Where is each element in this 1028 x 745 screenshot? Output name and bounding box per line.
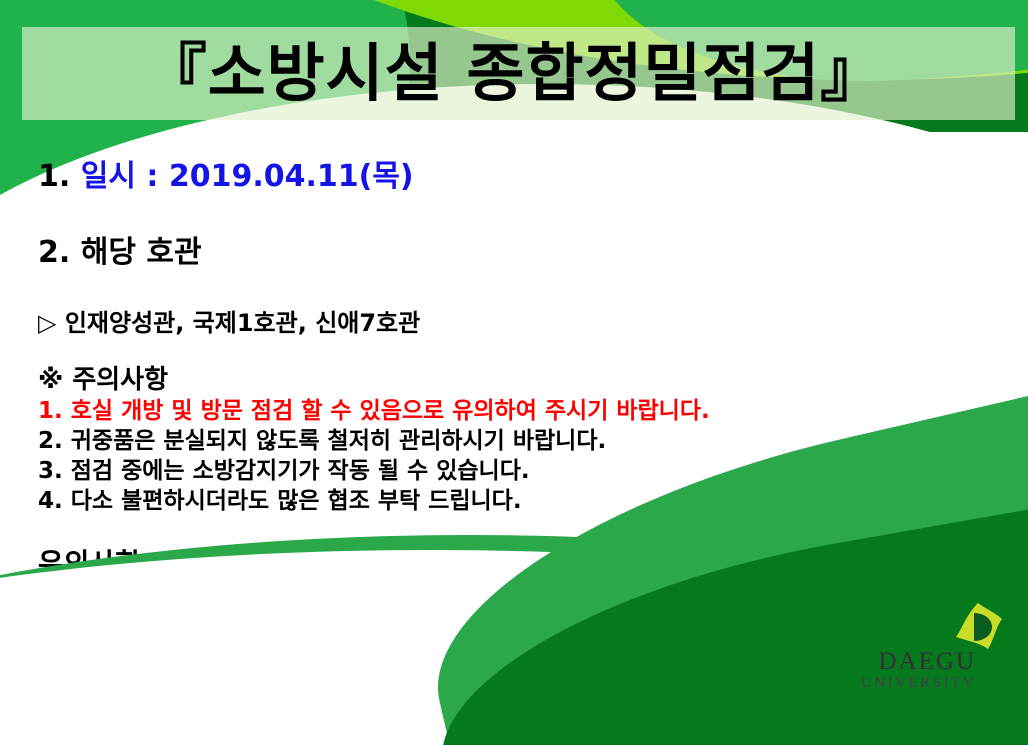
agenda-item-2-number: 2. <box>38 235 70 270</box>
footer-note-label: 유의사항: <box>38 547 152 580</box>
triangle-bullet-icon: ▷ <box>38 309 56 337</box>
logo-subname: UNIVERSITY <box>861 676 976 691</box>
agenda-item-1-text: 일시 : 2019.04.11(목) <box>81 159 414 194</box>
notice-2-text: 귀중품은 분실되지 않도록 철저히 관리하시기 바랍니다. <box>71 428 606 454</box>
notice-item: 2. 귀중품은 분실되지 않도록 철저히 관리하시기 바랍니다. <box>38 426 988 456</box>
footer-note-spellcheck-text: 1시간정도 <box>178 583 301 616</box>
spacer-1 <box>38 194 988 236</box>
agenda-item-1-number: 1. <box>38 159 70 194</box>
slide-title: 『소방시설 종합정밀점검』 <box>0 28 1028 120</box>
daegu-university-wordmark: DAEGU UNIVERSITY <box>861 649 976 691</box>
presentation-slide: 『소방시설 종합정밀점검』 1. 일시 : 2019.04.11(목) 2. 해… <box>0 0 1028 745</box>
spacer-2 <box>38 270 988 308</box>
logo-name: DAEGU <box>861 649 976 674</box>
notice-1-text: 호실 개방 및 방문 점검 할 수 있음으로 유의하여 주시기 바랍니다. <box>71 398 710 424</box>
spacer-3 <box>38 338 988 364</box>
footer-note-line-1: 유의사항: 점검시간은 13시부터 17시이며 상황에 따라 <box>38 546 988 582</box>
footer-note-text-continued: 연장 될 수 있습니다. <box>301 583 557 616</box>
notice-4-number: 4. <box>38 488 63 514</box>
slide-body: 1. 일시 : 2019.04.11(목) 2. 해당 호관 ▷ 인재양성관, … <box>38 160 988 618</box>
agenda-item-2: 2. 해당 호관 <box>38 236 988 270</box>
notice-3-text: 점검 중에는 소방감지기가 작동 될 수 있습니다. <box>71 458 530 484</box>
notice-1-number: 1. <box>38 398 63 424</box>
footer-note-line-2: 1시간정도 연장 될 수 있습니다. <box>38 582 988 618</box>
notice-2-number: 2. <box>38 428 63 454</box>
buildings-line: ▷ 인재양성관, 국제1호관, 신애7호관 <box>38 308 988 338</box>
buildings-text: 인재양성관, 국제1호관, 신애7호관 <box>65 309 420 337</box>
agenda-item-2-text: 해당 호관 <box>81 235 202 270</box>
notice-heading: ※ 주의사항 <box>38 364 988 396</box>
daegu-university-emblem-icon <box>952 601 1004 653</box>
agenda-item-1: 1. 일시 : 2019.04.11(목) <box>38 160 988 194</box>
daegu-university-logo: DAEGU UNIVERSITY <box>860 601 1010 693</box>
notice-3-number: 3. <box>38 458 63 484</box>
notice-item: 3. 점검 중에는 소방감지기가 작동 될 수 있습니다. <box>38 456 988 486</box>
notice-item: 4. 다소 불편하시더라도 많은 협조 부탁 드립니다. <box>38 486 988 516</box>
notice-4-text: 다소 불편하시더라도 많은 협조 부탁 드립니다. <box>71 488 522 514</box>
spacer-4 <box>38 516 988 546</box>
footer-note-text: 점검시간은 13시부터 17시이며 상황에 따라 <box>162 547 691 580</box>
notice-item: 1. 호실 개방 및 방문 점검 할 수 있음으로 유의하여 주시기 바랍니다. <box>38 396 988 426</box>
